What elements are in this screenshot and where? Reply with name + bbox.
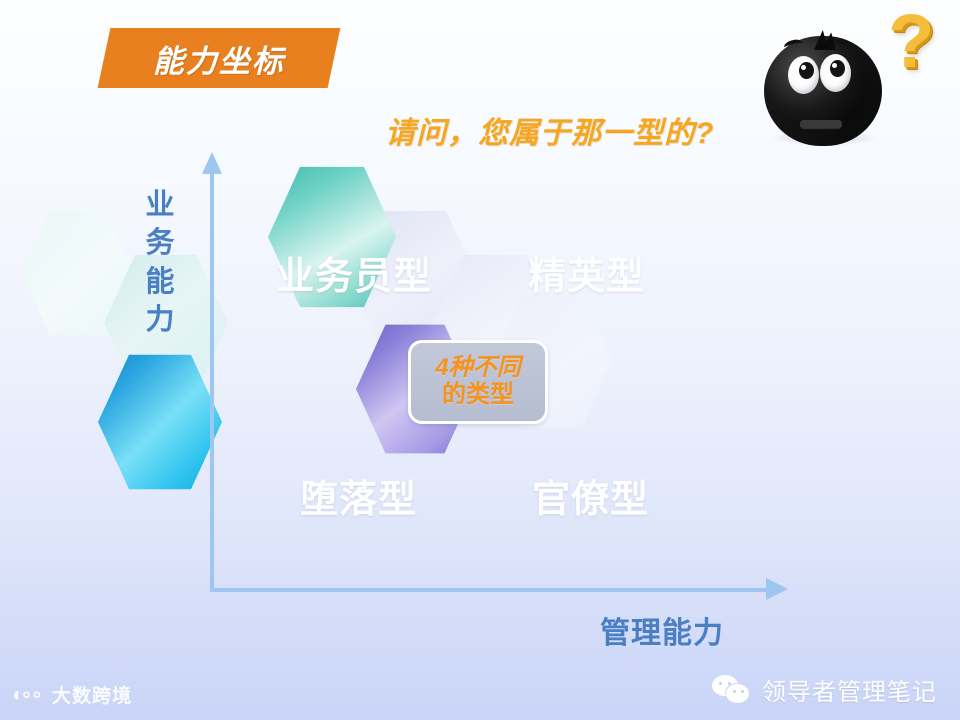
y-axis-label-char-2: 务: [142, 224, 178, 262]
wechat-dot-2: [728, 682, 731, 685]
wechat-logo-icon: [712, 675, 752, 705]
question-mark-icon: ?: [888, 4, 934, 80]
watermark-left: ◖∘∘ 大数跨境: [10, 681, 132, 708]
quadrant-label-bottom-right: 官僚型: [532, 468, 649, 523]
watermark-left-text: 大数跨境: [52, 681, 132, 708]
quadrant-label-top-right: 精英型: [528, 245, 645, 300]
subtitle-text: 请问，您属于那一型的?: [385, 108, 714, 152]
watermark-right-text: 领导者管理笔记: [762, 672, 937, 707]
callout-line-2: 的类型: [442, 382, 514, 409]
callout-box: 4种不同 的类型: [408, 340, 548, 424]
page-title: 能力坐标: [153, 36, 285, 81]
callout-line-1: 4种不同: [435, 355, 520, 382]
cartoon-character-icon: [762, 8, 887, 148]
title-banner: 能力坐标: [98, 28, 341, 88]
y-axis-label-char-3: 能: [142, 263, 178, 301]
x-axis-label: 管理能力: [600, 608, 724, 652]
x-axis-line: [210, 588, 770, 592]
character-eye-glint-right: [832, 63, 837, 68]
quadrant-label-bottom-left: 堕落型: [300, 468, 417, 523]
y-axis-label-char-4: 力: [142, 301, 178, 339]
wechat-dot-4: [741, 690, 744, 693]
character-eye-glint-left: [801, 65, 806, 70]
x-axis-arrow-icon: [766, 578, 788, 600]
y-axis-label: 业 务 能 力: [142, 186, 178, 339]
slide-canvas: 业 务 能 力 管理能力 业务员型 精英型 堕落型 官僚型 4种不同 的类型 能…: [0, 0, 960, 720]
y-axis-arrow-icon: [202, 152, 222, 174]
wechat-bubble-small: [726, 684, 749, 703]
dashu-logo-icon: ◖∘∘: [10, 684, 44, 706]
y-axis-line: [210, 170, 214, 592]
quadrant-label-top-left: 业务员型: [276, 245, 432, 300]
watermark-right: 领导者管理笔记: [712, 672, 937, 707]
character-mouth: [800, 120, 842, 128]
wechat-dot-3: [733, 690, 736, 693]
character-head: [764, 36, 882, 146]
y-axis-label-char-1: 业: [142, 186, 178, 224]
wechat-dot-1: [719, 682, 722, 685]
